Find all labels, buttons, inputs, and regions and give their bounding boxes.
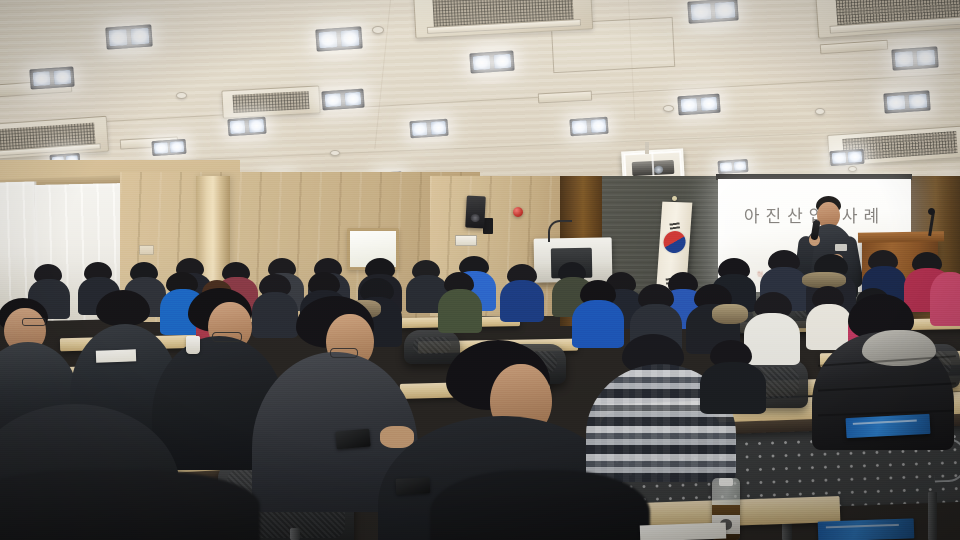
smoke-detector	[848, 166, 857, 172]
eyeglasses	[212, 332, 242, 342]
recessed-downlight[interactable]	[105, 24, 152, 49]
recessed-downlight[interactable]	[469, 50, 514, 73]
smoke-detector	[815, 108, 825, 115]
presenter-name-badge	[835, 244, 847, 251]
desk-leg	[928, 492, 937, 540]
recessed-downlight[interactable]	[227, 117, 266, 137]
audience-member	[438, 272, 482, 328]
foreground-coat	[430, 470, 650, 540]
wall-switch-plate[interactable]	[139, 245, 154, 255]
projector-mount-bracket	[645, 142, 649, 154]
chair-post	[290, 528, 300, 540]
recessed-downlight[interactable]	[830, 149, 865, 166]
eyeglasses	[330, 348, 358, 358]
paper-cup[interactable]	[186, 336, 200, 354]
blue-brochure[interactable]	[818, 518, 915, 540]
ac-grille	[232, 91, 310, 114]
foreground-coat	[0, 470, 260, 540]
recessed-downlight[interactable]	[315, 26, 362, 51]
recessed-downlight[interactable]	[29, 66, 74, 89]
speaker-cone	[470, 214, 480, 223]
ac-ceiling-cassette	[221, 85, 320, 118]
smoke-detector	[372, 26, 384, 34]
seminar-room-photo: 아진산업 사례 혁신 활동 사례 발표 개요	[0, 0, 960, 540]
recessed-downlight[interactable]	[321, 89, 364, 111]
eyeglasses	[22, 318, 46, 326]
fur-hood	[712, 304, 748, 324]
recessed-downlight[interactable]	[677, 94, 720, 116]
smoke-detector	[330, 150, 340, 156]
recessed-downlight[interactable]	[409, 119, 448, 139]
smoke-detector	[663, 105, 674, 112]
audience-member	[572, 280, 624, 342]
audience-member	[500, 264, 544, 318]
smoke-detector	[176, 92, 187, 99]
audience-member	[262, 296, 402, 496]
flag-pole-knob	[672, 196, 677, 201]
paper-handout[interactable]	[96, 349, 136, 362]
recessed-downlight[interactable]	[687, 0, 738, 24]
paper-handout[interactable]	[640, 523, 727, 540]
gooseneck-microphone[interactable]	[548, 220, 572, 242]
recessed-downlight[interactable]	[883, 90, 930, 113]
recessed-downlight[interactable]	[718, 159, 749, 174]
smartphone[interactable]	[396, 477, 431, 495]
flag-trigram	[669, 221, 680, 229]
lectern-mic-head	[928, 208, 935, 215]
recessed-downlight[interactable]	[152, 139, 187, 156]
recessed-downlight[interactable]	[569, 117, 608, 137]
fire-alarm-bell	[513, 207, 523, 217]
wall-switch-plate[interactable]	[455, 235, 477, 246]
smartphone[interactable]	[335, 429, 370, 450]
flag-taegeuk	[662, 230, 687, 255]
audience-member	[700, 340, 766, 406]
recessed-downlight[interactable]	[891, 46, 938, 70]
wall-speaker	[465, 196, 486, 229]
